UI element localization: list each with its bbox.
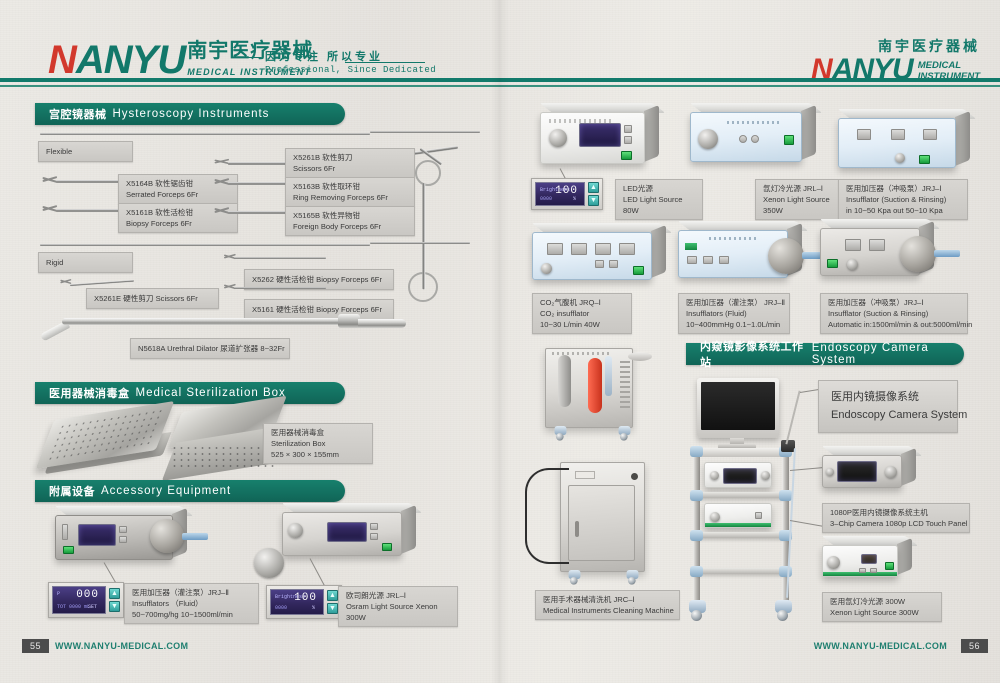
insuff1-display-3 [923, 129, 937, 140]
insuff2-button-1[interactable] [687, 256, 697, 264]
xenon300-front-face [822, 545, 898, 577]
xenon-side-face [801, 105, 816, 160]
device-side-switch[interactable] [62, 524, 68, 540]
label-ring-removing-forceps: X5163B 软性取环钳 Ring Removing Forceps 6Fr [285, 177, 415, 207]
callout-screen: P 000 TOT 0000 mL SET [52, 586, 106, 614]
xenon-light-port[interactable] [698, 129, 718, 149]
footer-url-right: WWW.NANYU-MEDICAL.COM [814, 641, 947, 651]
label-osram-light-source: 欧司朗光源 JRL–Ⅰ Osram Light Source Xenon 300… [338, 586, 458, 627]
camera-host-side-face [901, 448, 916, 486]
led-callout-line2: 0000 [540, 196, 552, 202]
device-power-button[interactable] [63, 546, 74, 554]
led-callout-keys[interactable]: ▲ ▼ [588, 182, 599, 206]
monitor-screen [701, 382, 775, 430]
camera-host-front-face [822, 455, 902, 488]
dilator-hub [338, 314, 360, 328]
page-number-left: 55 [22, 639, 49, 653]
device-insufflator-suction-rinsing [838, 118, 956, 168]
section-header-camera-cn: 内窥镜影像系统工作站 [700, 338, 806, 370]
lcd-callout-osram: Brightness 100 0000 % ▲ ▼ [266, 585, 342, 619]
section-header-hysteroscopy-en: Hysteroscopy Instruments [113, 108, 270, 120]
led-callout-screen: Brightness 100 0000 % [535, 182, 585, 206]
cart-joint-tl [690, 446, 703, 457]
label-insufflator-auto: 医用加压器（冲吸泵）JRJ–Ⅰ Insufflator (Suction & R… [820, 293, 968, 334]
cart-joint-b4r [779, 566, 792, 577]
cart-joint-b4l [690, 566, 703, 577]
led-button-1[interactable] [624, 125, 632, 133]
label-urethral-dilator: N5618A Urethral Dilator 尿道扩张器 8~32Fr [130, 338, 290, 359]
cart-camera-host-face [704, 462, 772, 488]
xenon300-display [861, 554, 877, 564]
led-callout-unit: % [573, 196, 576, 202]
co2-side-face [651, 225, 666, 278]
header-rule-thick [0, 78, 1000, 82]
section-header-hysteroscopy-cn: 宫腔镜器械 [49, 106, 107, 122]
lcd-callout-led: Brightness 100 0000 % ▲ ▼ [531, 178, 603, 210]
insuff3-display-1 [845, 239, 861, 251]
flexible-scope-shaft-top [40, 133, 370, 135]
slogan-dash-right [345, 62, 425, 63]
device-button-2[interactable] [119, 536, 127, 543]
cart-shelf-2 [692, 492, 788, 498]
section-header-sterilization-en: Medical Sterilization Box [136, 387, 286, 399]
xenon300-button-1[interactable] [859, 568, 866, 573]
co2-button-1[interactable] [595, 260, 604, 268]
device-xenon-300w [822, 545, 898, 577]
xenon300-button-2[interactable] [870, 568, 877, 573]
label-scissors-flexible: X5261B 软性剪刀 Scissors 6Fr [285, 148, 415, 178]
insuff3-power-button[interactable] [827, 259, 838, 268]
led-callout-key-up[interactable]: ▲ [588, 182, 599, 193]
light-source-lcd [327, 522, 367, 542]
cart-shelf-3 [692, 532, 788, 538]
device-xenon-light-source [690, 112, 802, 162]
osram-callout-line2: 0000 [275, 605, 287, 611]
device-osram-light-source [282, 512, 402, 556]
cart-camera-host [704, 462, 772, 488]
flexible-scope-shaft-top-2 [370, 131, 480, 133]
cleaning-machine-2-badge [575, 471, 595, 479]
led-power-button[interactable] [621, 151, 632, 160]
callout-keys[interactable]: ▲ ▼ [109, 586, 120, 614]
cart-post-left [693, 448, 700, 608]
scissors-rigid-shaft [70, 280, 134, 286]
cart-joint-ml [690, 490, 703, 501]
osram-callout-key-down[interactable]: ▼ [327, 603, 338, 614]
cart-camera-host-port[interactable] [710, 471, 719, 480]
biopsy-rigid-1-shaft [234, 257, 326, 259]
section-header-accessory: 附属设备 Accessory Equipment [35, 480, 345, 502]
section-header-accessory-cn: 附属设备 [49, 483, 95, 499]
dilator-end [358, 319, 406, 328]
led-light-port[interactable] [549, 129, 567, 147]
light-source-button-1[interactable] [370, 523, 378, 530]
tray-perforation-pattern [171, 445, 276, 467]
cart-caster-right [775, 600, 792, 613]
co2-display-1 [547, 243, 563, 255]
device-button-1[interactable] [119, 526, 127, 533]
led-front-text [549, 119, 611, 123]
pump-head [150, 519, 184, 553]
insuff3-display-2 [869, 239, 885, 251]
co2-display-4 [619, 243, 635, 255]
cleaning-machine-2-hose [525, 468, 569, 564]
label-endoscopy-camera-system: 医用内镜摄像系统 Endoscopy Camera System [818, 380, 958, 433]
cleaning-machine-1-caster-right [619, 426, 631, 435]
osram-callout-keys[interactable]: ▲ ▼ [327, 589, 338, 615]
label-1080p-camera-host: 1080P医用内镜摄像系统主机 3–Chip Camera 1080p LCD … [822, 503, 970, 533]
insuff2-button-3[interactable] [719, 256, 729, 264]
cleaning-hose-red [588, 358, 602, 413]
led-button-2[interactable] [624, 136, 632, 144]
insuff2-pump-head [768, 238, 804, 274]
section-header-camera-en: Endoscopy Camera System [812, 342, 964, 366]
osram-callout-screen: Brightness 100 0000 % [270, 589, 324, 615]
cart-shelf-4 [692, 568, 788, 574]
device-lcd [78, 524, 116, 546]
osram-callout-key-up[interactable]: ▲ [327, 590, 338, 601]
endoscope-shaft [785, 391, 800, 445]
callout-line2: TOT 0000 mL [57, 604, 90, 610]
cleaning-machine-1-caster-left [555, 426, 567, 435]
led-front-face [540, 112, 645, 164]
osram-callout-unit: % [312, 605, 315, 611]
led-callout-key-down[interactable]: ▼ [588, 195, 599, 206]
cart-camera-host-screen [723, 468, 757, 484]
xenon300-power-button[interactable] [885, 562, 894, 570]
rigid-scope-shaft-2 [370, 242, 470, 244]
camera-host-connector[interactable] [885, 466, 897, 478]
cart-caster-left [689, 600, 706, 613]
light-source-button-2[interactable] [370, 533, 378, 540]
pump-tube-connector [182, 533, 208, 540]
page-gutter-shadow [491, 0, 509, 683]
co2-button-2[interactable] [609, 260, 618, 268]
group-label-flexible: Flexible [38, 141, 133, 162]
group-label-rigid: Rigid [38, 252, 133, 273]
insuff3-pump-head [900, 236, 936, 272]
cleaning-spray-gun [605, 356, 612, 396]
xenon-button-1[interactable] [739, 135, 747, 143]
cleaning-machine-1-vent [620, 361, 630, 409]
callout-leader-2 [310, 558, 326, 587]
label-sterilization-box: 医用器械消毒盒 Sterilization Box 525 × 300 × 15… [263, 423, 373, 464]
callout-line3: SET [88, 604, 97, 610]
xenon-front-text [727, 121, 779, 124]
section-header-sterilization: 医用器械消毒盒 Medical Sterilization Box [35, 382, 345, 404]
cleaning-machine-1-label-text [552, 352, 610, 355]
light-cable-connector [254, 548, 284, 578]
insuff2-button-2[interactable] [703, 256, 713, 264]
section-header-hysteroscopy: 宫腔镜器械 Hysteroscopy Instruments [35, 103, 345, 125]
label-co2-insufflator: CO₂气腹机 JRQ–Ⅰ CO₂ insufflator 10~30 L/min… [532, 293, 632, 334]
label-xenon-300w: 医用氙灯冷光源 300W Xenon Light Source 300W [822, 592, 942, 622]
cleaning-hose-gray [558, 355, 571, 407]
brand-wordmark: NANYU [48, 40, 185, 80]
led-lcd [579, 123, 621, 147]
label-cleaning-machine: 医用手术器械清洗机 JRC–Ⅰ Medical Instruments Clea… [535, 590, 680, 620]
insuff3-tube [934, 250, 960, 257]
cleaning-machine-2-handle[interactable] [575, 521, 579, 537]
light-source-side-face [401, 505, 416, 554]
cleaning-machine-2-indicator [631, 473, 638, 480]
slogan-dash-left [245, 57, 261, 58]
light-source-power-button[interactable] [382, 543, 392, 551]
callout-key-down[interactable]: ▼ [109, 601, 120, 612]
insuff2-indicator [685, 243, 697, 250]
camera-host-knob[interactable] [826, 468, 834, 476]
cart-joint-mr [779, 490, 792, 501]
xenon-front-face [690, 112, 802, 162]
co2-display-3 [595, 243, 611, 255]
cart-camera-host-knob[interactable] [761, 471, 770, 480]
xenon-button-2[interactable] [751, 135, 759, 143]
insuff1-side-face [955, 111, 970, 166]
endoscopy-monitor [697, 378, 779, 438]
section-header-sterilization-cn: 医用器械消毒盒 [49, 385, 130, 401]
xenon300-light-port[interactable] [827, 556, 840, 569]
insuff1-port[interactable] [895, 153, 905, 163]
light-port-knob[interactable] [288, 523, 303, 538]
section-header-camera-system: 内窥镜影像系统工作站 Endoscopy Camera System [686, 343, 964, 365]
label-xenon-light-source: 氙灯冷光源 JRL–Ⅰ Xenon Light Source 350W [755, 179, 843, 220]
light-source-front-face [282, 512, 402, 556]
cart-shelf-top [692, 448, 788, 457]
cleaning-machine-1-tray [628, 352, 652, 361]
handle-vertical-shaft [423, 183, 426, 289]
device-co2-insufflator [532, 232, 652, 280]
co2-display-2 [571, 243, 587, 255]
lcd-callout-insufflator: P 000 TOT 0000 mL SET ▲ ▼ [48, 582, 124, 618]
xenon-power-button[interactable] [784, 135, 794, 145]
label-scissors-rigid: X5261E 硬性剪刀 Scissors 6Fr [86, 288, 219, 309]
xenon300-side-face [897, 538, 912, 575]
rigid-scope-shaft [40, 244, 370, 246]
catalog-page: NANYU 南宇医疗器械 MEDICAL INSTRUMENT 因为专注 所以专… [0, 0, 1000, 683]
label-insufflator-suction-rinsing: 医用加压器（冲吸泵）JRJ–Ⅰ Insufflator (Suction & R… [838, 179, 968, 220]
footer-url-left: WWW.NANYU-MEDICAL.COM [55, 641, 188, 651]
insuff1-display-1 [857, 129, 871, 140]
cart-light-source-face [704, 503, 772, 528]
biopsy-rigid-2-shaft [234, 287, 326, 289]
cleaning-machine-2-caster-left [569, 570, 581, 579]
slogan-en: Professional, Since Dedicated [265, 65, 485, 75]
device-1080p-camera-host [822, 455, 902, 488]
label-foreign-body-forceps: X5165B 软性异物钳 Foreign Body Forceps 6Fr [285, 206, 415, 236]
header-rule-thin [0, 85, 1000, 87]
callout-label: P [57, 591, 60, 597]
dilator-shaft [62, 318, 342, 325]
osram-callout-value: 100 [294, 592, 317, 604]
cleaning-machine-unit-2 [560, 462, 645, 572]
cleaning-machine-2-caster-right [627, 570, 639, 579]
label-insufflators-fluid: 医用加压器（灌注泵） JRJ–Ⅱ Insufflators (Fluid) 10… [678, 293, 790, 334]
insuff1-power-button[interactable] [919, 155, 930, 164]
label-insufflator-fluid: 医用加压器（灌注泵）JRJ–Ⅱ Insufflators （Fluid） 50~… [124, 583, 259, 624]
cart-light-source [704, 503, 772, 528]
camera-host-touch-panel[interactable] [837, 461, 877, 482]
co2-power-button[interactable] [633, 266, 644, 275]
label-led-light-source: LED光源 LED Light Source 80W [615, 179, 703, 220]
cart-light-source-port[interactable] [710, 512, 720, 522]
callout-key-up[interactable]: ▲ [109, 588, 120, 599]
cart-light-source-button[interactable] [755, 512, 762, 519]
cart-light-source-stripe [705, 523, 771, 527]
insuff1-display-2 [891, 129, 905, 140]
co2-front-face [532, 232, 652, 280]
led-side-face [644, 105, 659, 162]
co2-gas-port[interactable] [541, 263, 552, 274]
insuff2-front-text [709, 237, 759, 240]
handle-ring-upper [415, 160, 441, 186]
section-header-accessory-en: Accessory Equipment [101, 485, 231, 497]
label-biopsy-forceps-rigid-2: X5161 硬性活检钳 Biopsy Forceps 6Fr [244, 299, 394, 320]
device-led-light-source [540, 112, 645, 164]
page-number-right: 56 [961, 639, 988, 653]
cart-joint-b3l [690, 530, 703, 541]
callout-value: 000 [76, 589, 99, 601]
insuff1-front-face [838, 118, 956, 168]
insuff3-port[interactable] [847, 259, 858, 270]
